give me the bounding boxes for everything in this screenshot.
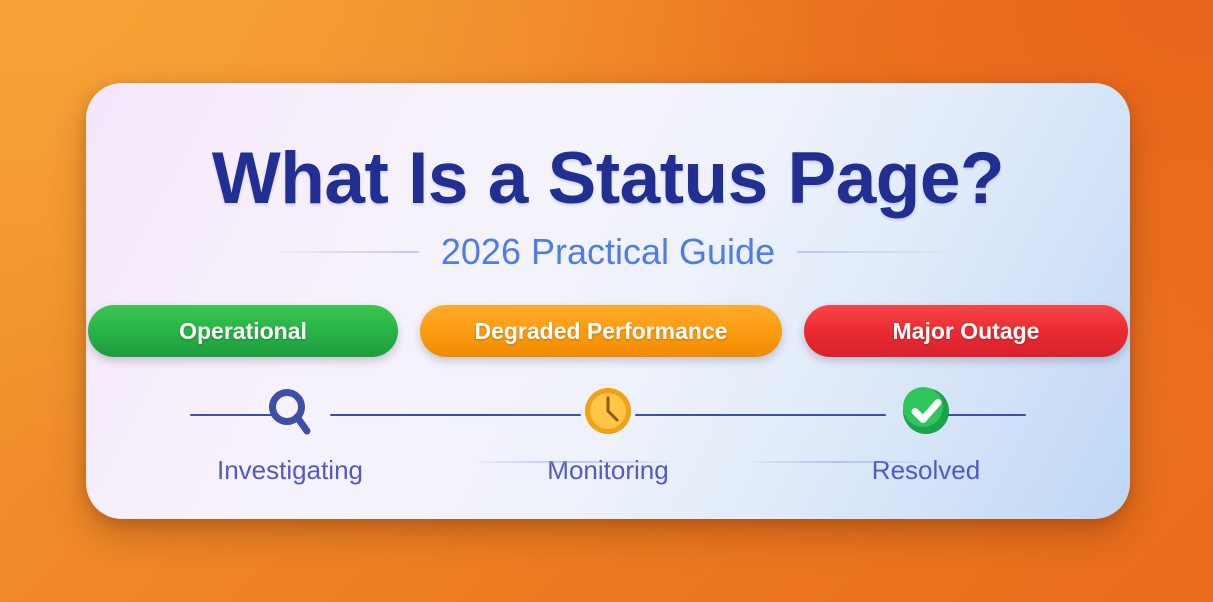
status-badge-operational-label: Operational (179, 318, 307, 345)
page-title: What Is a Status Page? (86, 137, 1130, 220)
subtitle-rule-right (797, 251, 949, 253)
status-badge-operational[interactable]: Operational (88, 305, 398, 357)
timeline-step-resolved-label: Resolved (872, 455, 980, 486)
incident-timeline: Investigating Monitoring (86, 383, 1130, 493)
timeline-step-investigating[interactable]: Investigating (190, 383, 390, 486)
subtitle-rule-left (267, 251, 419, 253)
status-badge-degraded-performance-label: Degraded Performance (474, 318, 727, 345)
timeline-step-investigating-label: Investigating (217, 455, 363, 486)
check-circle-icon (900, 383, 952, 441)
timeline-step-monitoring[interactable]: Monitoring (508, 383, 708, 486)
poster-canvas: What Is a Status Page? 2026 Practical Gu… (0, 0, 1213, 602)
timeline-step-monitoring-label: Monitoring (547, 455, 668, 486)
status-badge-group: Operational Degraded Performance Major O… (86, 305, 1130, 357)
subtitle-row: 2026 Practical Guide (86, 231, 1130, 273)
magnifier-icon (264, 383, 316, 441)
status-badge-degraded-performance[interactable]: Degraded Performance (420, 305, 782, 357)
timeline-step-resolved[interactable]: Resolved (826, 383, 1026, 486)
timeline-steps: Investigating Monitoring (190, 383, 1026, 486)
page-subtitle: 2026 Practical Guide (441, 231, 775, 273)
timeline-label-rule-2 (752, 461, 924, 463)
clock-icon (582, 383, 634, 441)
timeline-label-rule-1 (478, 461, 668, 463)
status-badge-major-outage-label: Major Outage (893, 318, 1040, 345)
status-page-card: What Is a Status Page? 2026 Practical Gu… (86, 83, 1130, 519)
status-badge-major-outage[interactable]: Major Outage (804, 305, 1128, 357)
